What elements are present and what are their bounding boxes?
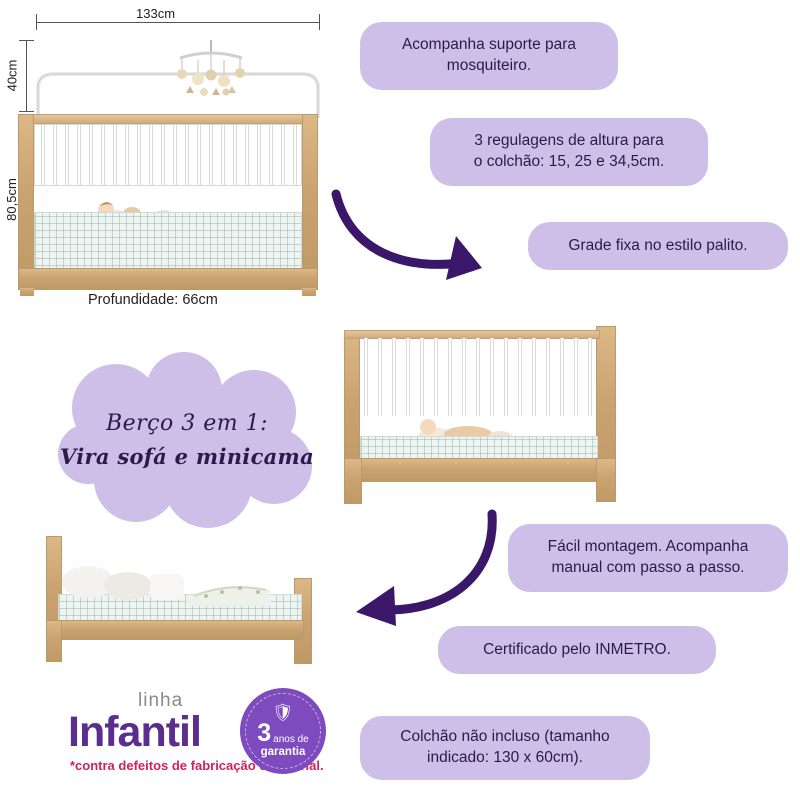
crib-stage-3-illustration [18, 530, 318, 680]
total-height-label: 80,5cm [4, 178, 19, 221]
curved-arrow-down-right-icon [330, 188, 510, 294]
callout-line: manual com passo a passo. [548, 558, 749, 579]
depth-label: Profundidade: 66cm [88, 292, 218, 308]
callout-mattress-not-included: Colchão não incluso (tamanho indicado: 1… [360, 716, 650, 780]
callout-line: mosquiteiro. [402, 56, 576, 77]
width-dimension-label: 133cm [130, 6, 181, 21]
warranty-seal: 🛡 3 anos de garantia [240, 688, 326, 774]
callout-height-adjust: 3 regulagens de altura para o colchão: 1… [430, 118, 708, 186]
curved-arrow-down-left-icon [320, 508, 510, 626]
callout-line: Certificado pelo INMETRO. [483, 640, 671, 661]
callout-line: indicado: 130 x 60cm). [400, 748, 609, 769]
cloud-line-2: Vira sofá e minicama [60, 444, 314, 469]
baby-mobile-icon [168, 40, 254, 106]
callout-line: 3 regulagens de altura para [474, 131, 664, 152]
callout-fixed-rail: Grade fixa no estilo palito. [528, 222, 788, 270]
callout-easy-assembly: Fácil montagem. Acompanha manual com pas… [508, 524, 788, 592]
seal-ring [245, 693, 321, 769]
callout-line: Colchão não incluso (tamanho [400, 727, 609, 748]
mobile-height-label: 40cm [4, 60, 19, 92]
cloud-line-1: Berço 3 em 1: [106, 411, 268, 436]
crib-stage-1-illustration [18, 108, 318, 288]
brand-name: Infantil [68, 708, 201, 757]
callout-line: Fácil montagem. Acompanha [548, 537, 749, 558]
callout-inmetro: Certificado pelo INMETRO. [438, 626, 716, 674]
callout-mosquito-support: Acompanha suporte para mosquiteiro. [360, 22, 618, 90]
callout-line: Acompanha suporte para [402, 35, 576, 56]
brand-block: linha Infantil *contra defeitos de fabri… [30, 688, 330, 780]
callout-line: o colchão: 15, 25 e 34,5cm. [474, 152, 664, 173]
callout-line: Grade fixa no estilo palito. [568, 236, 747, 257]
crib-stage-2-illustration [330, 318, 626, 508]
cloud-callout-3-in-1: Berço 3 em 1: Vira sofá e minicama [58, 350, 316, 530]
bedding-illustration [54, 552, 304, 608]
infographic-canvas: 133cm 40cm 80,5cm [0, 0, 800, 800]
